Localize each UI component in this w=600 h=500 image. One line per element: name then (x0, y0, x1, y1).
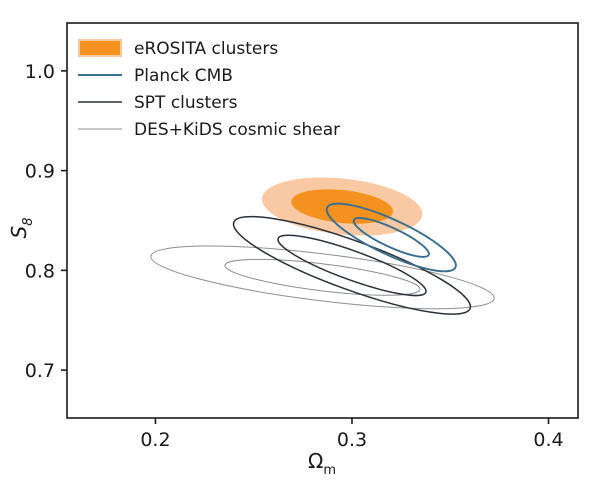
legend-label: DES+KiDS cosmic shear (134, 120, 340, 140)
x-tick-label: 0.4 (533, 429, 563, 451)
y-tick-label: 0.7 (25, 360, 55, 382)
legend-entry: Planck CMB (78, 66, 233, 86)
contour-plot: 0.20.30.40.70.80.91.0 Ωm S8 eROSITA clus… (0, 0, 600, 500)
contour-2sigma (148, 233, 497, 322)
legend-label: Planck CMB (134, 66, 233, 86)
x-tick-label: 0.3 (337, 429, 367, 451)
x-axis-title-sub: m (323, 463, 336, 478)
series-des-kids-cosmic-shear (148, 233, 497, 322)
legend-entry: eROSITA clusters (78, 39, 278, 59)
y-tick-label: 0.9 (25, 161, 55, 183)
y-axis-title: S8 (7, 218, 36, 239)
x-tick-label: 0.2 (140, 429, 170, 451)
contour-1sigma (223, 252, 421, 303)
y-axis-title-sub: 8 (21, 218, 36, 226)
legend-entry: SPT clusters (78, 93, 238, 113)
legend-swatch-inner (80, 41, 120, 55)
legend-label: eROSITA clusters (134, 39, 278, 59)
legend: eROSITA clustersPlanck CMBSPT clustersDE… (78, 39, 340, 140)
y-tick-label: 0.8 (25, 260, 55, 282)
y-axis-title-main: S (7, 225, 31, 238)
x-axis-title-main: Ω (308, 449, 323, 473)
x-axis-title: Ωm (308, 449, 336, 478)
legend-label: SPT clusters (134, 93, 238, 113)
contour-layer (148, 170, 497, 331)
figure-canvas: 0.20.30.40.70.80.91.0 Ωm S8 eROSITA clus… (0, 0, 600, 500)
legend-entry: DES+KiDS cosmic shear (78, 120, 340, 140)
y-tick-label: 1.0 (25, 61, 55, 83)
